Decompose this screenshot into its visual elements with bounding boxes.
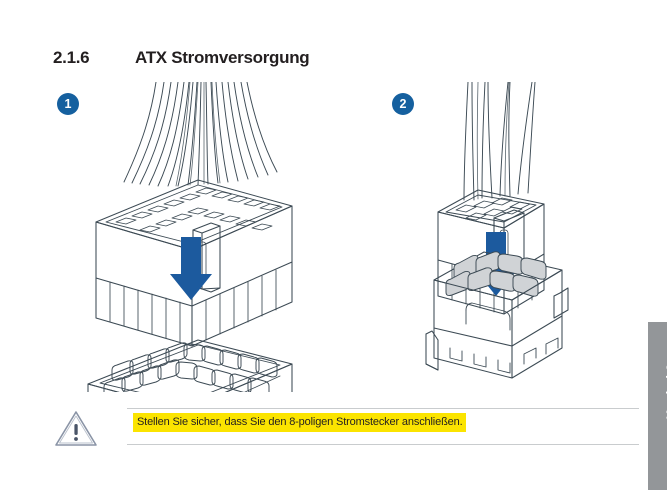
page-heading: 2.1.6 ATX Stromversorgung: [53, 48, 309, 68]
step-badge-2-label: 2: [400, 98, 407, 111]
step-badge-2: 2: [392, 93, 414, 115]
chapter-tab: Kapitel 2: [648, 322, 667, 490]
step-badge-1: 1: [57, 93, 79, 115]
warning-note: Stellen Sie sicher, dass Sie den 8-polig…: [53, 403, 639, 451]
figure-eps-8-pin-connection: [420, 82, 590, 382]
note-bottom-rule: [127, 444, 639, 445]
document-page: 2.1.6 ATX Stromversorgung 1 2: [0, 0, 667, 490]
chapter-tab-label: Kapitel 2: [664, 322, 667, 467]
heading-title: ATX Stromversorgung: [135, 48, 309, 68]
note-top-rule: [127, 408, 639, 409]
figure-atx-24-pin-connection: [80, 82, 310, 392]
warning-triangle-icon: [53, 408, 99, 448]
warning-note-text: Stellen Sie sicher, dass Sie den 8-polig…: [133, 413, 466, 432]
step-badge-1-label: 1: [65, 98, 72, 111]
heading-number: 2.1.6: [53, 48, 135, 68]
